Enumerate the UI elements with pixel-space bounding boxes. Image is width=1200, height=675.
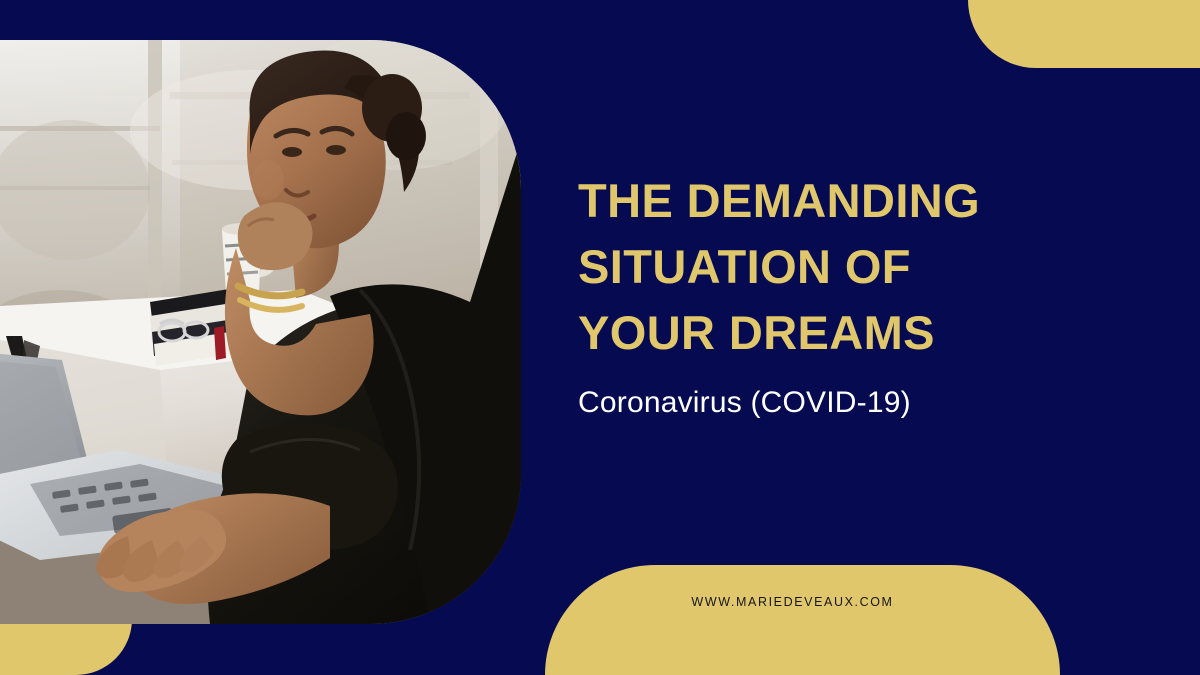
- top-right-gold-shape: [968, 0, 1200, 68]
- subtitle: Coronavirus (COVID-19): [578, 366, 1078, 420]
- hero-photo: [0, 40, 521, 624]
- social-media-banner: THE DEMANDING SITUATION OF YOUR DREAMS C…: [0, 0, 1200, 675]
- page-title: THE DEMANDING SITUATION OF YOUR DREAMS: [578, 168, 1078, 366]
- bottom-gold-band: [545, 565, 1060, 675]
- website-url[interactable]: WWW.MARIEDEVEAUX.COM: [545, 595, 1040, 609]
- headline-block: THE DEMANDING SITUATION OF YOUR DREAMS C…: [578, 168, 1078, 420]
- bottom-left-gold-shape: [0, 619, 132, 675]
- hero-photo-illustration: [0, 40, 521, 624]
